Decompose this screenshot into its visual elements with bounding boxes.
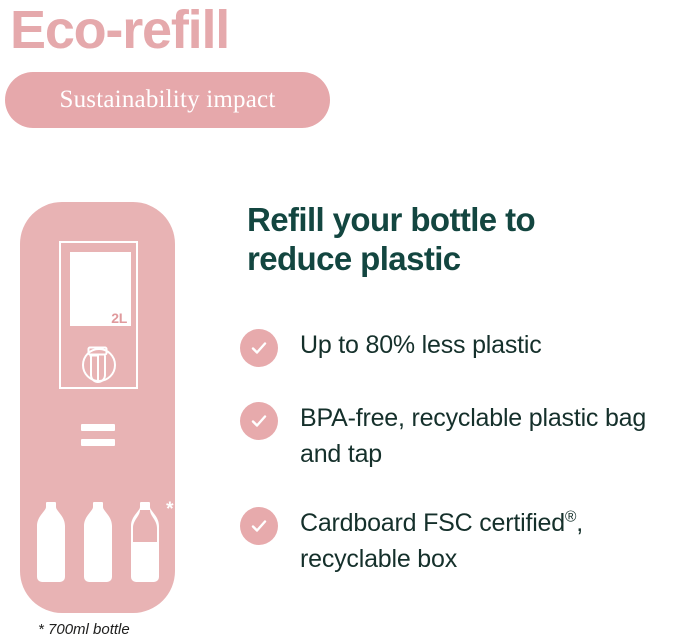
check-icon [240, 402, 278, 440]
sustainability-impact-badge: Sustainability impact [5, 72, 330, 128]
page-title: Eco-refill [10, 2, 229, 59]
list-item-text: Up to 80% less plastic [300, 331, 542, 359]
heading-line-2: reduce plastic [247, 240, 647, 279]
equals-bar-bottom [81, 439, 115, 446]
equals-sign [81, 424, 115, 446]
list-item: BPA-free, recyclable plastic bag and tap [240, 401, 670, 472]
footnote: * 700ml bottle [38, 621, 130, 638]
bottle-2 [78, 502, 118, 587]
badge-label: Sustainability impact [60, 86, 276, 114]
list-item-label: BPA-free, recyclable plastic bag and tap [300, 401, 670, 472]
asterisk-marker: * [166, 500, 173, 519]
check-icon [240, 329, 278, 367]
list-item: Up to 80% less plastic [240, 328, 670, 367]
registered-trademark-symbol: ® [565, 509, 576, 526]
list-item-text: BPA-free, recyclable plastic bag and tap [300, 404, 646, 468]
bottle-1 [31, 502, 71, 587]
bottle-group: * [20, 487, 175, 587]
list-item-label: Up to 80% less plastic [300, 328, 542, 364]
refill-volume-label: 2L [111, 311, 127, 326]
check-icon [240, 507, 278, 545]
equals-bar-top [81, 424, 115, 431]
benefits-list: Up to 80% less plastic BPA-free, recycla… [240, 328, 670, 577]
tap-spout-icon [76, 339, 122, 392]
refill-box-icon: 2L [59, 241, 138, 389]
heading-line-1: Refill your bottle to [247, 201, 647, 240]
bottle-3-highlighted: * [125, 502, 165, 587]
list-item: Cardboard FSC certified®, recyclable box [240, 506, 670, 577]
list-item-label: Cardboard FSC certified®, recyclable box [300, 506, 670, 577]
main-heading: Refill your bottle to reduce plastic [247, 201, 647, 279]
list-item-text: Cardboard FSC certified [300, 509, 565, 537]
refill-box-label: 2L [70, 252, 131, 326]
illustration-panel: 2L [20, 202, 175, 613]
